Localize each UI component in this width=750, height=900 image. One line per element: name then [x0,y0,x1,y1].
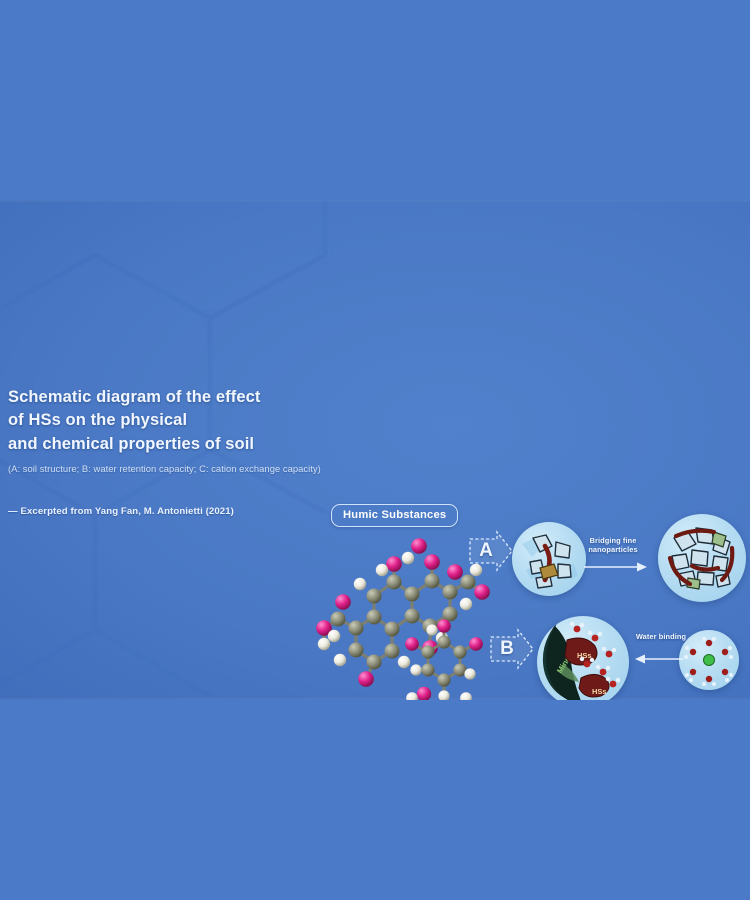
marker-b-letter: B [492,628,522,670]
caption-a: Bridging fine nanoparticles [577,536,649,555]
schematic-figure: Schematic diagram of the effect of HSs o… [0,200,750,700]
subtitle-legend: (A: soil structure; B: water retention c… [8,463,338,476]
arrow-a-right [583,560,649,574]
hs-blob-label-2: HSs [592,687,607,696]
caption-b: Water binding [630,632,692,641]
bubble-a-before [512,522,586,596]
title-line-1: Schematic diagram of the effect [8,386,338,409]
marker-b: B [489,628,535,670]
page-title: Schematic diagram of the effect of HSs o… [8,386,338,456]
marker-a-letter: A [471,530,501,572]
bottom-letterbox-band [0,700,750,900]
attribution-line: — Excerpted from Yang Fan, M. Antonietti… [8,506,338,517]
text-block: Schematic diagram of the effect of HSs o… [8,386,338,517]
bubble-a-after [658,514,746,602]
bubble-b-mineral-water: Mineral HSs HSs [537,616,629,700]
title-line-3: and chemical properties of soil [8,433,338,456]
hs-blob-label-1: HSs [577,651,592,660]
molecule-cluster-lower [362,680,492,700]
arrow-b-left [634,652,684,666]
top-letterbox-band [0,0,750,200]
figure-canvas: Schematic diagram of the effect of HSs o… [0,0,750,900]
title-line-2: of HSs on the physical [8,409,338,432]
marker-a: A [468,530,514,572]
